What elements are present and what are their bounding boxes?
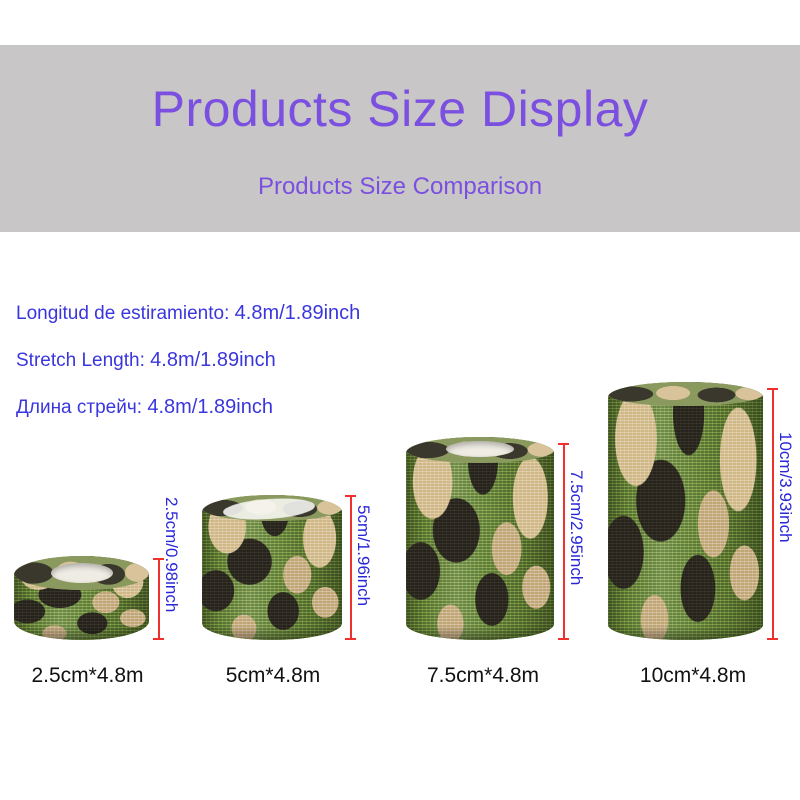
roll-core-hole xyxy=(446,441,514,457)
bracket-cap-bottom xyxy=(558,638,569,640)
spec-value-ru: 4.8m/1.89inch xyxy=(147,396,273,418)
product-roll-10cm xyxy=(608,382,763,640)
rim-camo-pattern xyxy=(608,382,763,406)
product-roll-5cm xyxy=(202,495,342,640)
stretch-length-specs: Longitud de estiramiento: 4.8m/1.89inch … xyxy=(16,303,536,444)
bracket-cap-top xyxy=(558,443,569,445)
roll-core-hole xyxy=(51,563,113,583)
bracket-cap-top xyxy=(345,495,356,497)
bracket-cap-bottom xyxy=(345,638,356,640)
roll-top-rim xyxy=(608,382,763,406)
bracket-cap-bottom xyxy=(767,638,778,640)
spec-label-ru: Длина стрейч: xyxy=(16,397,142,418)
spec-value-en: 4.8m/1.89inch xyxy=(150,349,276,371)
size-label-5cm: 5cm*4.8m xyxy=(188,664,358,688)
dimension-label-7-5cm: 7.5cm/2.95inch xyxy=(568,470,585,585)
spec-line-ru: Длина стрейч: 4.8m/1.89inch xyxy=(16,397,536,418)
size-label-10cm: 10cm*4.8m xyxy=(608,664,778,688)
bracket-line xyxy=(563,443,565,640)
weave-texture xyxy=(608,382,763,640)
dimension-label-5cm: 5cm/1.96inch xyxy=(355,505,372,606)
product-size-display-image: Products Size Display Products Size Comp… xyxy=(0,0,800,800)
spec-value-es: 4.8m/1.89inch xyxy=(235,302,361,324)
page-subtitle: Products Size Comparison xyxy=(0,172,800,202)
weave-texture xyxy=(406,437,554,640)
spec-line-es: Longitud de estiramiento: 4.8m/1.89inch xyxy=(16,303,536,324)
product-roll-7-5cm xyxy=(406,437,554,640)
bracket-cap-top xyxy=(767,388,778,390)
size-label-2-5cm: 2.5cm*4.8m xyxy=(0,664,175,688)
product-roll-2-5cm xyxy=(14,556,149,640)
bracket-line xyxy=(772,388,774,640)
dimension-label-2-5cm: 2.5cm/0.98inch xyxy=(163,497,180,612)
dimension-label-10cm: 10cm/3.93inch xyxy=(777,432,794,543)
page-title: Products Size Display xyxy=(0,80,800,138)
header-banner xyxy=(0,45,800,232)
spec-label-es: Longitud de estiramiento: xyxy=(16,303,229,324)
bracket-line xyxy=(350,495,352,640)
bracket-cap-bottom xyxy=(153,638,164,640)
bracket-line xyxy=(158,558,160,640)
spec-line-en: Stretch Length: 4.8m/1.89inch xyxy=(16,350,536,371)
spec-label-en: Stretch Length: xyxy=(16,350,145,371)
size-label-7-5cm: 7.5cm*4.8m xyxy=(398,664,568,688)
